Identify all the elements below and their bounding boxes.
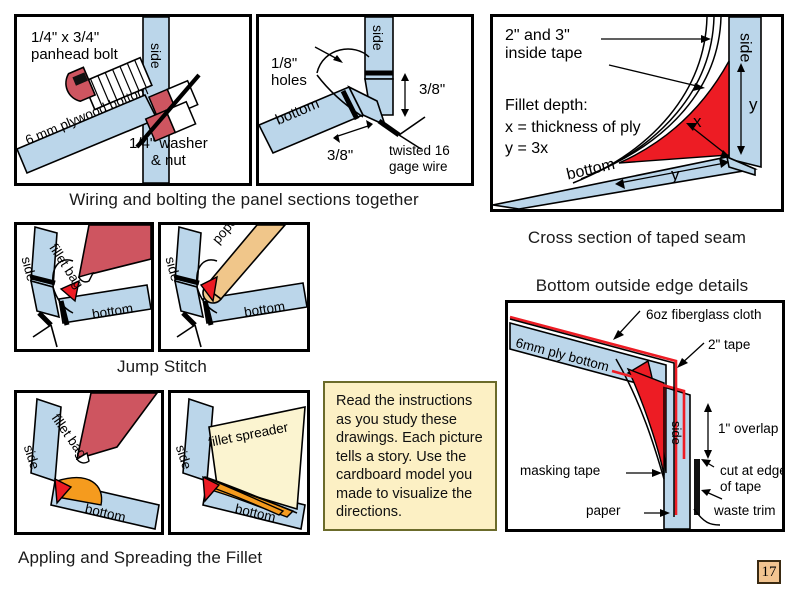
caption-fillet: Appling and Spreading the Fillet xyxy=(18,548,262,568)
washer-label-line1: 1/4" washer xyxy=(129,135,208,152)
caption-jump-stitch: Jump Stitch xyxy=(14,357,310,377)
holes-label-line2: holes xyxy=(271,72,307,89)
panel-wiring: 1/8" holes side bottom 3/8" 3/8" twisted… xyxy=(256,14,474,186)
dim-y-vertical-label: y xyxy=(749,95,758,115)
cut-label-line2: of tape xyxy=(720,479,785,495)
caption-cross-section: Cross section of taped seam xyxy=(490,228,784,248)
cut-label-line1: cut at edge xyxy=(720,463,785,479)
inside-tape-label: 2" and 3" inside tape xyxy=(505,27,582,64)
page-number-badge: 17 xyxy=(757,560,781,584)
jump-stitch-stick-illustration xyxy=(161,225,307,349)
instruction-page: 1/4" x 3/4" panhead bolt 1/4" washer & n… xyxy=(0,0,798,599)
washer-label-line2: & nut xyxy=(129,152,208,169)
fillet-depth-y: y = 3x xyxy=(505,138,641,160)
two-inch-tape-label: 2" tape xyxy=(708,337,750,353)
masking-tape-label: masking tape xyxy=(520,463,600,479)
holes-label: 1/8" holes xyxy=(271,55,307,90)
panel-fillet-apply: fillet bag side bottom xyxy=(14,390,164,535)
instruction-note-text: Read the instructions as you study these… xyxy=(336,393,483,520)
bolt-label-line1: 1/4" x 3/4" xyxy=(31,29,118,46)
paper-label: paper xyxy=(586,503,621,519)
panel-jump-stitch-left: fillet bag side bottom xyxy=(14,222,154,352)
wire-label: twisted 16 gage wire xyxy=(389,143,450,174)
inside-tape-line2: inside tape xyxy=(505,45,582,63)
wire-label-line1: twisted 16 xyxy=(389,143,450,159)
side-label-wiring: side xyxy=(370,25,386,51)
wire-label-line2: gage wire xyxy=(389,159,450,175)
fillet-depth-title: Fillet depth: xyxy=(505,95,641,117)
dim-y-horizontal-label: y xyxy=(671,165,680,185)
jump-stitch-bag-illustration xyxy=(17,225,151,349)
overlap-label: 1" overlap xyxy=(718,421,778,437)
bolt-label: 1/4" x 3/4" panhead bolt xyxy=(31,29,118,64)
caption-bolting: Wiring and bolting the panel sections to… xyxy=(14,190,474,210)
waste-trim-label: waste trim xyxy=(714,503,776,519)
panel-bottom-edge: 6oz fiberglass cloth 2" tape 1" overlap … xyxy=(505,300,785,532)
fiberglass-cloth-label: 6oz fiberglass cloth xyxy=(646,307,762,323)
cut-at-edge-label: cut at edge of tape xyxy=(720,463,785,494)
side-label-cross-section: side xyxy=(735,33,753,62)
panel-fillet-spread: fillet spreader side bottom xyxy=(168,390,310,535)
inside-tape-line1: 2" and 3" xyxy=(505,27,582,45)
dim-x-label: x xyxy=(693,112,702,132)
panel-cross-section: 2" and 3" inside tape Fillet depth: x = … xyxy=(490,14,784,212)
side-label-bolting: side xyxy=(148,43,164,69)
panel-jump-stitch-right: popcicle stick side bottom xyxy=(158,222,310,352)
washer-nut-label: 1/4" washer & nut xyxy=(129,135,208,170)
bolt-label-line2: panhead bolt xyxy=(31,46,118,63)
fillet-depth-label: Fillet depth: x = thickness of ply y = 3… xyxy=(505,95,641,160)
caption-bottom-edge: Bottom outside edge details xyxy=(500,276,784,296)
fillet-depth-x: x = thickness of ply xyxy=(505,117,641,139)
instruction-note: Read the instructions as you study these… xyxy=(323,381,497,531)
dim-vertical-label: 3/8" xyxy=(419,81,445,98)
panel-bolting: 1/4" x 3/4" panhead bolt 1/4" washer & n… xyxy=(14,14,252,186)
side-label-bottom-edge: side xyxy=(668,421,683,445)
dim-horizontal-label: 3/8" xyxy=(327,147,353,164)
holes-label-line1: 1/8" xyxy=(271,55,307,72)
